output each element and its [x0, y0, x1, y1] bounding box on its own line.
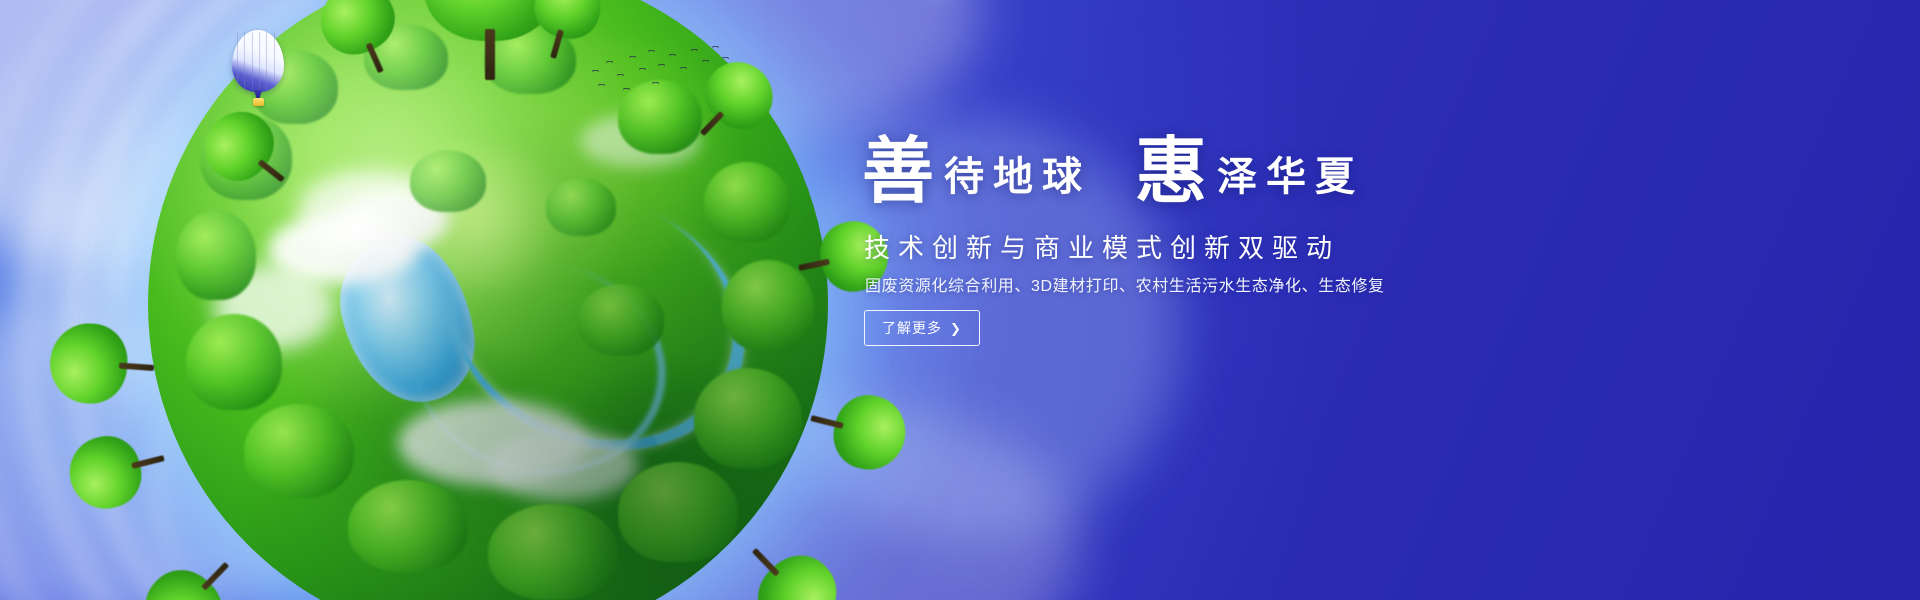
bird-icon [652, 82, 659, 86]
shrub [348, 480, 468, 572]
bird-icon [639, 68, 646, 72]
shrub [578, 284, 664, 356]
river-branch [403, 248, 680, 491]
learn-more-button[interactable]: 了解更多 ❯ [864, 310, 980, 346]
planet-cloud [488, 430, 638, 500]
shrub [618, 462, 738, 562]
headline-rest-2: 泽华夏 [1217, 154, 1364, 199]
shrub [410, 150, 486, 212]
headline-char-1: 善 [862, 132, 934, 212]
planet-cloud [268, 214, 418, 284]
shrub [176, 210, 256, 300]
planet-cloud [398, 400, 588, 486]
bird-icon [712, 46, 719, 50]
bird-icon [648, 50, 655, 54]
planet-cloud [580, 114, 700, 168]
lake [328, 225, 486, 416]
shrub [704, 162, 790, 242]
bird-icon [617, 74, 624, 78]
bird-icon [722, 57, 729, 61]
tree [47, 321, 156, 408]
hero-banner: 善待地球惠泽华夏 技术创新与商业模式创新双驱动 固废资源化综合利用、3D建材打印… [0, 0, 1920, 600]
bird-icon [658, 64, 665, 68]
shrub [694, 368, 802, 468]
shrub [488, 504, 618, 600]
shrub [244, 404, 354, 498]
bird-icon [691, 49, 698, 53]
highland-snow [298, 170, 448, 250]
description-text: 固废资源化综合利用、3D建材打印、农村生活污水生态净化、生态修复 [865, 272, 1385, 296]
shrub [186, 314, 282, 410]
banner-content: 善待地球惠泽华夏 技术创新与商业模式创新双驱动 固废资源化综合利用、3D建材打印… [862, 0, 1862, 600]
bird-icon [680, 67, 687, 71]
bird-icon [629, 56, 636, 60]
page-title: 善待地球惠泽华夏 [862, 136, 1364, 208]
bird-icon [702, 60, 709, 64]
headline-char-2: 惠 [1135, 132, 1207, 212]
tree [129, 537, 255, 600]
hot-air-balloon [232, 30, 284, 114]
bird-flock [590, 40, 740, 100]
balloon-basket [253, 98, 264, 106]
highland-snow [214, 264, 334, 350]
headline-rest-1: 待地球 [944, 154, 1091, 199]
bird-icon [592, 70, 599, 74]
bird-icon [606, 61, 613, 65]
subheadline: 技术创新与商业模式创新双驱动 [864, 228, 1340, 265]
chevron-right-icon: ❯ [950, 322, 962, 335]
bird-icon [623, 88, 630, 92]
bird-icon [669, 54, 676, 58]
terrain-patch [378, 144, 578, 294]
shrub [546, 178, 616, 236]
terrain-patch [268, 344, 608, 594]
learn-more-label: 了解更多 [882, 318, 942, 338]
river [413, 153, 783, 493]
balloon-envelope [232, 30, 284, 92]
bird-icon [598, 84, 605, 88]
planet-cloud [336, 192, 446, 250]
